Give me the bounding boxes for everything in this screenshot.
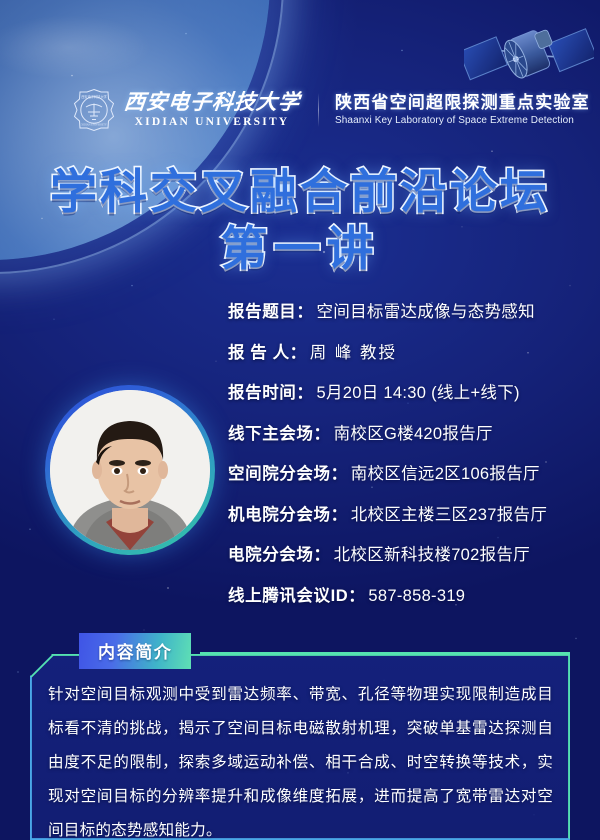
detail-label: 空间院分会场： <box>228 460 348 484</box>
speaker-photo <box>50 390 210 550</box>
detail-row-venue-elec: 电院分会场： 北校区新科技楼702报告厅 <box>228 541 588 565</box>
detail-row-time: 报告时间： 5月20日 14:30 (线上+线下) <box>228 379 588 403</box>
abstract-badge: 内容简介 <box>79 633 191 669</box>
detail-label: 电院分会场： <box>228 541 331 565</box>
event-details: 报告题目： 空间目标雷达成像与态势感知 报 告 人： 周 峰 教授 报告时间： … <box>228 298 588 622</box>
abstract-body: 针对空间目标观测中受到雷达频率、带宽、孔径等物理实现限制造成目标看不清的挑战，揭… <box>48 678 553 840</box>
svg-text:西安电子科技大学: 西安电子科技大学 <box>81 94 107 99</box>
detail-value: 南校区G楼420报告厅 <box>334 420 493 444</box>
detail-row-speaker: 报 告 人： 周 峰 教授 <box>228 339 588 363</box>
university-logo: 西安电子科技大学 XIDIAN UNIVERSITY 西安电子科技大学 XIDI… <box>72 88 300 132</box>
laboratory-name-en: Shaanxi Key Laboratory of Space Extreme … <box>335 115 590 126</box>
detail-row-venue-space: 空间院分会场： 南校区信远2区106报告厅 <box>228 460 588 484</box>
detail-row-venue-mech: 机电院分会场： 北校区主楼三区237报告厅 <box>228 501 588 525</box>
detail-value: 587-858-319 <box>368 587 465 606</box>
laboratory-name-cn: 陕西省空间超限探测重点实验室 <box>335 94 590 113</box>
detail-row-topic: 报告题目： 空间目标雷达成像与态势感知 <box>228 298 588 322</box>
detail-label: 线下主会场： <box>228 420 331 444</box>
detail-row-main-venue: 线下主会场： 南校区G楼420报告厅 <box>228 420 588 444</box>
detail-value: 北校区新科技楼702报告厅 <box>334 541 530 565</box>
header-divider <box>318 93 319 127</box>
speaker-photo-ring <box>45 385 215 555</box>
detail-value: 南校区信远2区106报告厅 <box>351 460 540 484</box>
detail-row-meeting-id: 线上腾讯会议ID： 587-858-319 <box>228 582 588 606</box>
detail-label: 机电院分会场： <box>228 501 348 525</box>
poster: 西安电子科技大学 XIDIAN UNIVERSITY 西安电子科技大学 XIDI… <box>0 0 600 840</box>
title-line-1: 学科交叉融合前沿论坛 <box>0 163 600 220</box>
poster-title: 学科交叉融合前沿论坛 第一讲 <box>0 163 600 278</box>
title-line-2: 第一讲 <box>0 220 600 277</box>
laboratory-name: 陕西省空间超限探测重点实验室 Shaanxi Key Laboratory of… <box>335 94 590 127</box>
university-name-en: XIDIAN UNIVERSITY <box>135 117 290 129</box>
detail-value: 周 峰 教授 <box>310 339 397 363</box>
detail-label: 报告题目： <box>228 298 314 322</box>
svg-text:XIDIAN UNIVERSITY: XIDIAN UNIVERSITY <box>81 124 107 127</box>
detail-label: 报 告 人： <box>228 339 307 363</box>
xidian-crest-icon: 西安电子科技大学 XIDIAN UNIVERSITY <box>72 88 116 132</box>
detail-label: 线上腾讯会议ID： <box>228 582 365 606</box>
header-band: 西安电子科技大学 XIDIAN UNIVERSITY 西安电子科技大学 XIDI… <box>0 82 600 138</box>
detail-value: 5月20日 14:30 (线上+线下) <box>317 379 520 403</box>
detail-value: 空间目标雷达成像与态势感知 <box>317 298 535 322</box>
university-name-cn: 西安电子科技大学 <box>123 92 301 113</box>
abstract-rule <box>200 652 570 654</box>
detail-label: 报告时间： <box>228 379 314 403</box>
detail-value: 北校区主楼三区237报告厅 <box>351 501 547 525</box>
speaker-portrait-image <box>50 390 210 550</box>
